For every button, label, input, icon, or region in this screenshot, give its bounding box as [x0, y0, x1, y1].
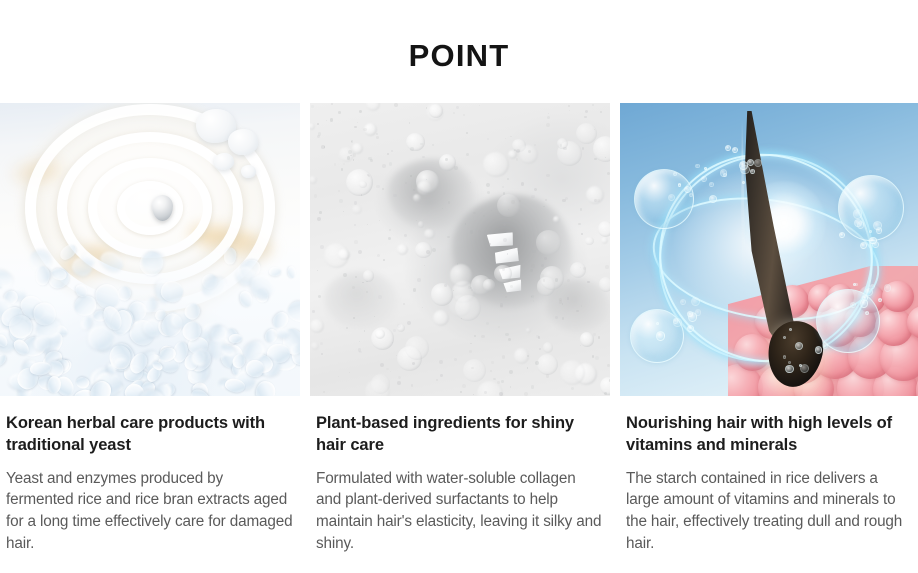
foam-speck	[320, 245, 324, 249]
foam-speck	[456, 106, 459, 109]
foam-speck	[511, 200, 515, 204]
foam-speck	[361, 194, 362, 195]
foam-bubble	[431, 283, 454, 306]
foam-speck	[469, 350, 472, 353]
micro-bubble	[680, 299, 686, 305]
rice-grain	[229, 334, 242, 344]
foam-bubble	[543, 342, 554, 353]
foam-bubble	[429, 104, 443, 118]
foam-speck	[394, 103, 398, 107]
micro-bubble	[656, 322, 659, 325]
foam-speck	[398, 376, 401, 379]
ripple-ring	[117, 181, 183, 235]
foam-speck	[317, 123, 319, 125]
foam-speck	[366, 291, 368, 293]
foam-speck	[493, 378, 495, 380]
foam-speck	[397, 324, 401, 328]
micro-bubble	[704, 167, 707, 170]
foam-speck	[560, 144, 563, 147]
foam-speck	[528, 237, 530, 239]
foam-speck	[330, 118, 334, 122]
foam-speck	[370, 159, 374, 163]
water-droplet	[152, 195, 173, 221]
micro-bubble	[878, 298, 882, 302]
foam-speck	[486, 322, 489, 325]
foam-speck	[567, 297, 569, 299]
foam-speck	[424, 265, 425, 266]
foam-speck	[594, 158, 596, 160]
foam-speck	[323, 391, 325, 393]
foam-speck	[474, 335, 476, 337]
foam-bubble	[413, 194, 421, 202]
foam-bubble	[418, 221, 424, 227]
micro-bubble	[853, 283, 856, 286]
foam-speck	[531, 295, 534, 298]
shampoo-foam-image	[310, 103, 610, 396]
foam-speck	[508, 338, 511, 341]
foam-bubble	[311, 342, 319, 350]
foam-speck	[346, 327, 348, 329]
micro-bubble	[853, 209, 862, 218]
foam-speck	[343, 163, 346, 166]
rice-grain	[255, 381, 276, 396]
foam-bubble	[324, 243, 350, 269]
point-column-1: Korean herbal care products with traditi…	[0, 103, 300, 554]
micro-bubble	[795, 342, 803, 350]
foam-speck	[478, 230, 481, 233]
micro-bubble	[709, 182, 714, 187]
foam-speck	[379, 220, 380, 221]
point-columns: Korean herbal care products with traditi…	[0, 103, 918, 554]
foam-speck	[318, 295, 321, 298]
foam-bubble	[352, 205, 362, 215]
foam-speck	[347, 156, 350, 159]
card-heading: Nourishing hair with high levels of vita…	[626, 413, 912, 457]
micro-bubble	[688, 312, 697, 321]
foam-speck	[466, 132, 468, 134]
foam-speck	[448, 201, 450, 203]
foam-speck	[442, 208, 443, 209]
foam-speck	[432, 248, 436, 252]
rice-grain	[98, 247, 127, 274]
foam-speck	[498, 326, 500, 328]
foam-speck	[487, 191, 490, 194]
foam-speck	[514, 149, 516, 151]
foam-speck	[354, 201, 357, 204]
micro-bubble	[860, 242, 867, 249]
foam-speck	[320, 342, 323, 345]
foam-speck	[331, 103, 333, 105]
foam-bubble	[483, 152, 509, 178]
foam-speck	[462, 384, 466, 388]
point-column-1-text: Korean herbal care products with traditi…	[0, 396, 300, 554]
rice-grain	[143, 251, 165, 270]
splash-blob	[228, 129, 258, 155]
foam-speck	[541, 274, 544, 277]
micro-bubble	[725, 145, 731, 151]
foam-speck	[338, 111, 341, 114]
foam-speck	[432, 144, 435, 147]
foam-speck	[376, 185, 380, 189]
water-bubble	[634, 169, 694, 229]
micro-bubble	[783, 336, 786, 339]
foam-speck	[334, 163, 337, 166]
foam-speck	[367, 224, 369, 226]
micro-bubble	[742, 181, 745, 184]
foam-speck	[357, 122, 358, 123]
foam-bubble	[570, 262, 586, 278]
foam-speck	[546, 374, 549, 377]
point-column-2-text: Plant-based ingredients for shiny hair c…	[310, 396, 610, 554]
foam-speck	[403, 303, 405, 305]
foam-bubble	[601, 237, 608, 244]
micro-bubble	[865, 288, 873, 296]
foam-speck	[486, 183, 490, 187]
foam-bubble	[405, 336, 430, 361]
foam-bubble	[424, 229, 435, 240]
foam-speck	[563, 147, 567, 151]
foam-speck	[510, 136, 512, 138]
foam-speck	[503, 238, 507, 242]
foam-speck	[534, 188, 537, 191]
foam-bubble	[598, 221, 611, 237]
foam-speck	[569, 110, 570, 111]
foam-speck	[393, 329, 396, 332]
foam-speck	[598, 336, 600, 338]
foam-speck	[358, 250, 362, 254]
foam-speck	[460, 391, 462, 393]
foam-speck	[350, 155, 352, 157]
foam-bubble	[599, 277, 610, 291]
foam-speck	[470, 230, 474, 234]
foam-speck	[311, 105, 315, 109]
foam-speck	[510, 285, 513, 288]
foam-speck	[580, 345, 581, 346]
foam-shard	[494, 248, 520, 266]
foam-speck	[555, 316, 558, 319]
foam-speck	[604, 392, 607, 395]
micro-bubble	[732, 147, 739, 154]
foam-speck	[533, 254, 534, 255]
foam-speck	[319, 211, 322, 214]
foam-speck	[407, 321, 411, 325]
rice-grain-bed	[0, 236, 300, 396]
foam-speck	[531, 195, 535, 199]
foam-speck	[584, 116, 587, 119]
foam-speck	[505, 296, 507, 298]
foam-speck	[587, 281, 589, 283]
foam-speck	[600, 111, 602, 113]
foam-speck	[527, 367, 529, 369]
foam-speck	[376, 136, 379, 139]
foam-speck	[338, 376, 339, 377]
foam-speck	[354, 126, 356, 128]
foam-speck	[505, 333, 509, 337]
foam-speck	[420, 143, 423, 146]
foam-speck	[447, 236, 449, 238]
foam-speck	[324, 146, 326, 148]
foam-bubble	[536, 230, 561, 255]
foam-speck	[524, 392, 528, 396]
foam-speck	[317, 270, 319, 272]
micro-bubble	[860, 299, 869, 308]
foam-speck	[359, 341, 360, 342]
foam-speck	[341, 168, 344, 171]
foam-speck	[502, 186, 504, 188]
micro-bubble	[656, 331, 666, 341]
foam-speck	[363, 128, 367, 132]
micro-bubble	[884, 284, 892, 292]
foam-speck	[565, 197, 568, 200]
rice-grain	[35, 267, 50, 286]
foam-speck	[509, 370, 513, 374]
foam-bubble	[416, 170, 439, 193]
foam-shard	[487, 230, 515, 249]
foam-bubble	[366, 103, 380, 111]
foam-speck	[389, 162, 393, 166]
rice-grain	[269, 267, 281, 277]
foam-speck	[571, 387, 574, 390]
foam-speck	[391, 150, 393, 152]
micro-bubble	[857, 221, 865, 229]
foam-speck	[353, 153, 356, 156]
splash-blob	[241, 165, 256, 178]
point-column-3: Nourishing hair with high levels of vita…	[620, 103, 918, 554]
foam-speck	[548, 113, 549, 114]
micro-bubble	[783, 355, 787, 359]
micro-bubble	[789, 328, 792, 331]
hair-follicle-nutrient-image	[620, 103, 918, 396]
micro-bubble	[873, 221, 882, 230]
foam-speck	[470, 343, 471, 344]
splash-blob	[214, 153, 234, 170]
foam-speck	[581, 233, 582, 234]
foam-speck	[382, 188, 384, 190]
foam-bubble	[576, 123, 597, 144]
foam-speck	[388, 237, 391, 240]
foam-speck	[378, 295, 382, 299]
foam-speck	[531, 385, 535, 389]
foam-speck	[582, 147, 585, 150]
foam-speck	[473, 212, 476, 215]
foam-speck	[440, 374, 443, 377]
micro-bubble	[673, 318, 679, 324]
micro-bubble	[754, 159, 762, 167]
foam-bubble	[363, 270, 375, 282]
foam-speck	[499, 392, 503, 396]
foam-speck	[454, 166, 458, 170]
foam-speck	[541, 264, 544, 267]
foam-speck	[386, 368, 388, 370]
foam-bubble	[463, 359, 486, 382]
foam-speck	[359, 351, 362, 354]
foam-speck	[580, 208, 583, 211]
foam-speck	[404, 234, 407, 237]
foam-speck	[444, 284, 447, 287]
foam-speck	[473, 394, 474, 395]
micro-bubble	[785, 365, 794, 374]
foam-speck	[568, 105, 570, 107]
micro-bubble	[815, 346, 823, 354]
foam-speck	[505, 138, 506, 139]
card-heading: Plant-based ingredients for shiny hair c…	[316, 413, 604, 457]
foam-bubble	[397, 244, 408, 255]
foam-speck	[545, 199, 546, 200]
foam-speck	[538, 336, 541, 339]
foam-speck	[481, 335, 484, 338]
foam-speck	[581, 305, 583, 307]
foam-shard	[503, 280, 523, 294]
foam-speck	[539, 348, 541, 350]
foam-bubble	[526, 328, 532, 334]
rice-grain	[287, 266, 297, 279]
foam-speck	[377, 254, 381, 258]
page-title: POINT	[0, 38, 918, 74]
point-section: POINT Korean her	[0, 0, 918, 573]
foam-speck	[410, 175, 411, 176]
rice-grain	[191, 350, 206, 366]
foam-speck	[359, 110, 362, 113]
foam-speck	[479, 105, 480, 106]
micro-bubble	[695, 164, 700, 169]
foam-speck	[507, 178, 509, 180]
foam-speck	[466, 153, 469, 156]
foam-speck	[338, 190, 340, 192]
foam-speck	[531, 264, 535, 268]
micro-bubble	[691, 297, 700, 306]
foam-bubble	[560, 360, 585, 385]
foam-speck	[597, 199, 600, 202]
foam-speck	[585, 110, 588, 113]
foam-speck	[454, 358, 458, 362]
foam-speck	[317, 135, 320, 138]
foam-speck	[417, 278, 421, 282]
foam-speck	[436, 379, 438, 381]
foam-speck	[422, 156, 425, 159]
rice-grain	[223, 248, 237, 266]
foam-speck	[390, 371, 391, 372]
foam-bubble	[365, 379, 390, 396]
micro-bubble	[673, 172, 677, 176]
foam-bubble	[537, 354, 558, 375]
foam-speck	[410, 147, 414, 151]
foam-speck	[348, 150, 352, 154]
foam-speck	[380, 363, 384, 367]
foam-speck	[543, 206, 544, 207]
foam-speck	[607, 364, 610, 367]
foam-bubble	[497, 194, 520, 217]
foam-speck	[439, 360, 443, 364]
foam-speck	[393, 194, 397, 198]
foam-speck	[500, 305, 503, 308]
foam-speck	[595, 356, 599, 360]
foam-speck	[349, 372, 350, 373]
foam-speck	[366, 281, 367, 282]
foam-speck	[396, 355, 397, 356]
foam-bubble	[540, 266, 564, 290]
micro-bubble	[687, 325, 694, 332]
foam-bubble	[483, 279, 495, 291]
micro-bubble	[839, 232, 846, 239]
card-body: The starch contained in rice delivers a …	[626, 468, 912, 554]
foam-speck	[578, 223, 580, 225]
foam-speck	[312, 310, 315, 313]
foam-speck	[593, 333, 597, 337]
micro-bubble	[701, 176, 707, 182]
foam-bubble	[585, 237, 594, 246]
card-heading: Korean herbal care products with traditi…	[6, 413, 294, 457]
foam-speck	[412, 362, 415, 365]
foam-speck	[463, 114, 465, 116]
foam-speck	[503, 192, 506, 195]
foam-speck	[382, 164, 386, 168]
card-body: Formulated with water-soluble collagen a…	[316, 468, 604, 554]
foam-speck	[353, 159, 354, 160]
warm-streak	[13, 160, 63, 185]
foam-speck	[521, 182, 524, 185]
foam-cavity	[324, 271, 398, 329]
foam-bubble	[519, 145, 538, 164]
foam-speck	[491, 361, 494, 364]
foam-bubble	[455, 295, 481, 321]
foam-speck	[592, 104, 594, 106]
foam-speck	[543, 279, 546, 282]
foam-speck	[546, 174, 550, 178]
foam-speck	[516, 158, 519, 161]
foam-bubble	[310, 176, 317, 184]
foam-speck	[383, 259, 385, 261]
foam-speck	[501, 380, 504, 383]
point-column-2: Plant-based ingredients for shiny hair c…	[310, 103, 610, 554]
foam-speck	[609, 379, 611, 382]
foam-speck	[605, 265, 609, 269]
foam-bubble	[553, 216, 560, 223]
foam-speck	[530, 269, 533, 272]
foam-speck	[510, 386, 512, 388]
foam-speck	[339, 199, 342, 202]
foam-bubble	[375, 329, 385, 339]
rice-grain	[0, 353, 7, 369]
foam-speck	[453, 112, 455, 114]
foam-speck	[547, 116, 550, 119]
foam-speck	[592, 355, 595, 358]
foam-speck	[314, 194, 317, 197]
foam-speck	[487, 138, 489, 140]
micro-bubble	[822, 342, 829, 349]
rice-water-ripple-image	[0, 103, 300, 396]
foam-speck	[409, 122, 410, 123]
foam-speck	[397, 381, 401, 385]
foam-speck	[422, 307, 423, 308]
point-column-3-text: Nourishing hair with high levels of vita…	[620, 396, 918, 554]
foam-speck	[411, 384, 414, 387]
foam-speck	[471, 289, 473, 291]
micro-bubble	[869, 230, 872, 233]
foam-speck	[321, 353, 323, 355]
card-body: Yeast and enzymes produced by fermented …	[6, 468, 294, 554]
foam-speck	[354, 224, 356, 226]
foam-speck	[326, 120, 327, 121]
foam-speck	[376, 133, 378, 135]
foam-speck	[413, 288, 416, 291]
foam-bubble	[433, 310, 449, 326]
foam-speck	[607, 172, 610, 175]
foam-speck	[387, 153, 389, 155]
foam-bubble	[310, 319, 324, 333]
foam-bubble	[580, 332, 595, 347]
foam-bubble	[359, 181, 366, 188]
foam-speck	[354, 240, 358, 244]
